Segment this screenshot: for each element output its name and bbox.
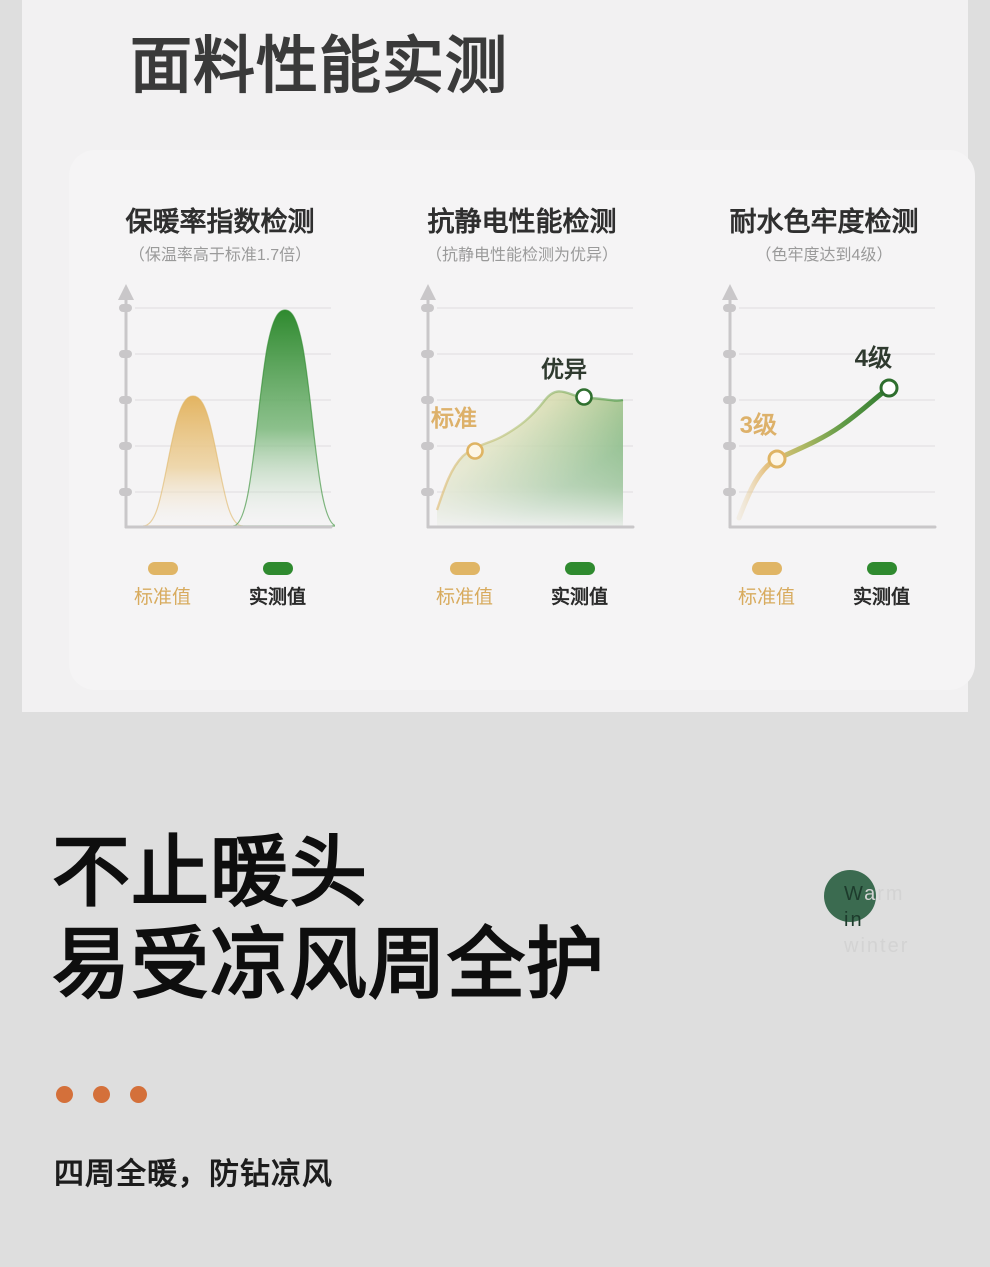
chart-series-standard (143, 396, 243, 526)
legend-label-standard: 标准值 (719, 588, 815, 607)
chart-subtitle-warmth: （保温率高于标准1.7倍） (69, 247, 371, 265)
chart-legend-warmth: 标准值 实测值 (105, 562, 335, 607)
legend-label-standard: 标准值 (115, 588, 211, 607)
chart-panel-colorfastness: 耐水色牢度检测 （色牢度达到4级） (673, 150, 975, 690)
dot-1 (56, 1086, 73, 1103)
chart-header: 抗静电性能检测 （抗静电性能检测为优异） (371, 208, 673, 264)
legend-swatch-measured-icon (263, 562, 293, 575)
top-content-panel: 面料性能实测 保暖率指数检测 （保温率高于标准1.7倍） (22, 0, 968, 712)
caption-text: 四周全暖，防钻凉风 (54, 1160, 333, 1190)
chart-axis-arrow-icon (722, 284, 738, 300)
legend-label-measured: 实测值 (230, 588, 326, 607)
charts-row: 保暖率指数检测 （保温率高于标准1.7倍） (69, 150, 975, 690)
chart-plot-warmth (105, 278, 335, 546)
chart-marker-standard (769, 451, 785, 467)
legend-item-standard: 标准值 (417, 562, 513, 607)
chart-header: 耐水色牢度检测 （色牢度达到4级） (673, 208, 975, 264)
chart-plot-antistatic: 标准 优异 (407, 278, 637, 546)
legend-item-measured: 实测值 (834, 562, 930, 607)
chart-series-measured (233, 310, 335, 526)
legend-item-standard: 标准值 (719, 562, 815, 607)
page-title: 面料性能实测 (130, 36, 508, 98)
warm-in-winter-badge: Warm in winter (822, 862, 942, 962)
chart-title-colorfastness: 耐水色牢度检测 (673, 208, 975, 238)
badge-word-warm: Warm (844, 884, 905, 904)
chart-panel-antistatic: 抗静电性能检测 （抗静电性能检测为优异） (371, 150, 673, 690)
chart-axis-arrow-icon (118, 284, 134, 300)
chart-marker-label-standard: 标准 (431, 405, 477, 431)
legend-item-measured: 实测值 (230, 562, 326, 607)
legend-item-measured: 实测值 (532, 562, 628, 607)
chart-marker-label-measured: 4级 (855, 344, 892, 372)
legend-swatch-standard-icon (450, 562, 480, 575)
chart-marker-standard (468, 444, 483, 459)
headline-line-1: 不止暖头 (52, 830, 752, 916)
headline-block: 不止暖头 易受凉风周全护 (52, 830, 752, 1008)
chart-series-line (739, 388, 889, 518)
badge-word-in: in (844, 910, 864, 930)
badge-word-warm-rest: arm (864, 883, 904, 905)
badge-letter-w: W (844, 883, 864, 905)
dot-3 (130, 1086, 147, 1103)
chart-title-antistatic: 抗静电性能检测 (371, 208, 673, 238)
chart-plot-colorfastness: 3级 4级 (709, 278, 939, 546)
legend-swatch-standard-icon (752, 562, 782, 575)
legend-label-standard: 标准值 (417, 588, 513, 607)
badge-word-winter: winter (844, 936, 909, 956)
legend-swatch-measured-icon (867, 562, 897, 575)
legend-label-measured: 实测值 (532, 588, 628, 607)
chart-title-warmth: 保暖率指数检测 (69, 208, 371, 238)
chart-panel-warmth: 保暖率指数检测 （保温率高于标准1.7倍） (69, 150, 371, 690)
chart-legend-colorfastness: 标准值 实测值 (709, 562, 939, 607)
chart-header: 保暖率指数检测 （保温率高于标准1.7倍） (69, 208, 371, 264)
charts-card: 保暖率指数检测 （保温率高于标准1.7倍） (69, 150, 975, 690)
legend-swatch-standard-icon (148, 562, 178, 575)
decorative-dots (56, 1086, 147, 1103)
chart-marker-measured (577, 390, 592, 405)
legend-item-standard: 标准值 (115, 562, 211, 607)
chart-marker-measured (881, 380, 897, 396)
headline-line-2: 易受凉风周全护 (52, 922, 752, 1008)
dot-2 (93, 1086, 110, 1103)
chart-legend-antistatic: 标准值 实测值 (407, 562, 637, 607)
chart-subtitle-colorfastness: （色牢度达到4级） (673, 247, 975, 265)
legend-swatch-measured-icon (565, 562, 595, 575)
chart-marker-label-standard: 3级 (740, 411, 777, 439)
legend-label-measured: 实测值 (834, 588, 930, 607)
chart-marker-label-measured: 优异 (541, 356, 587, 382)
chart-axis-arrow-icon (420, 284, 436, 300)
chart-subtitle-antistatic: （抗静电性能检测为优异） (371, 247, 673, 265)
